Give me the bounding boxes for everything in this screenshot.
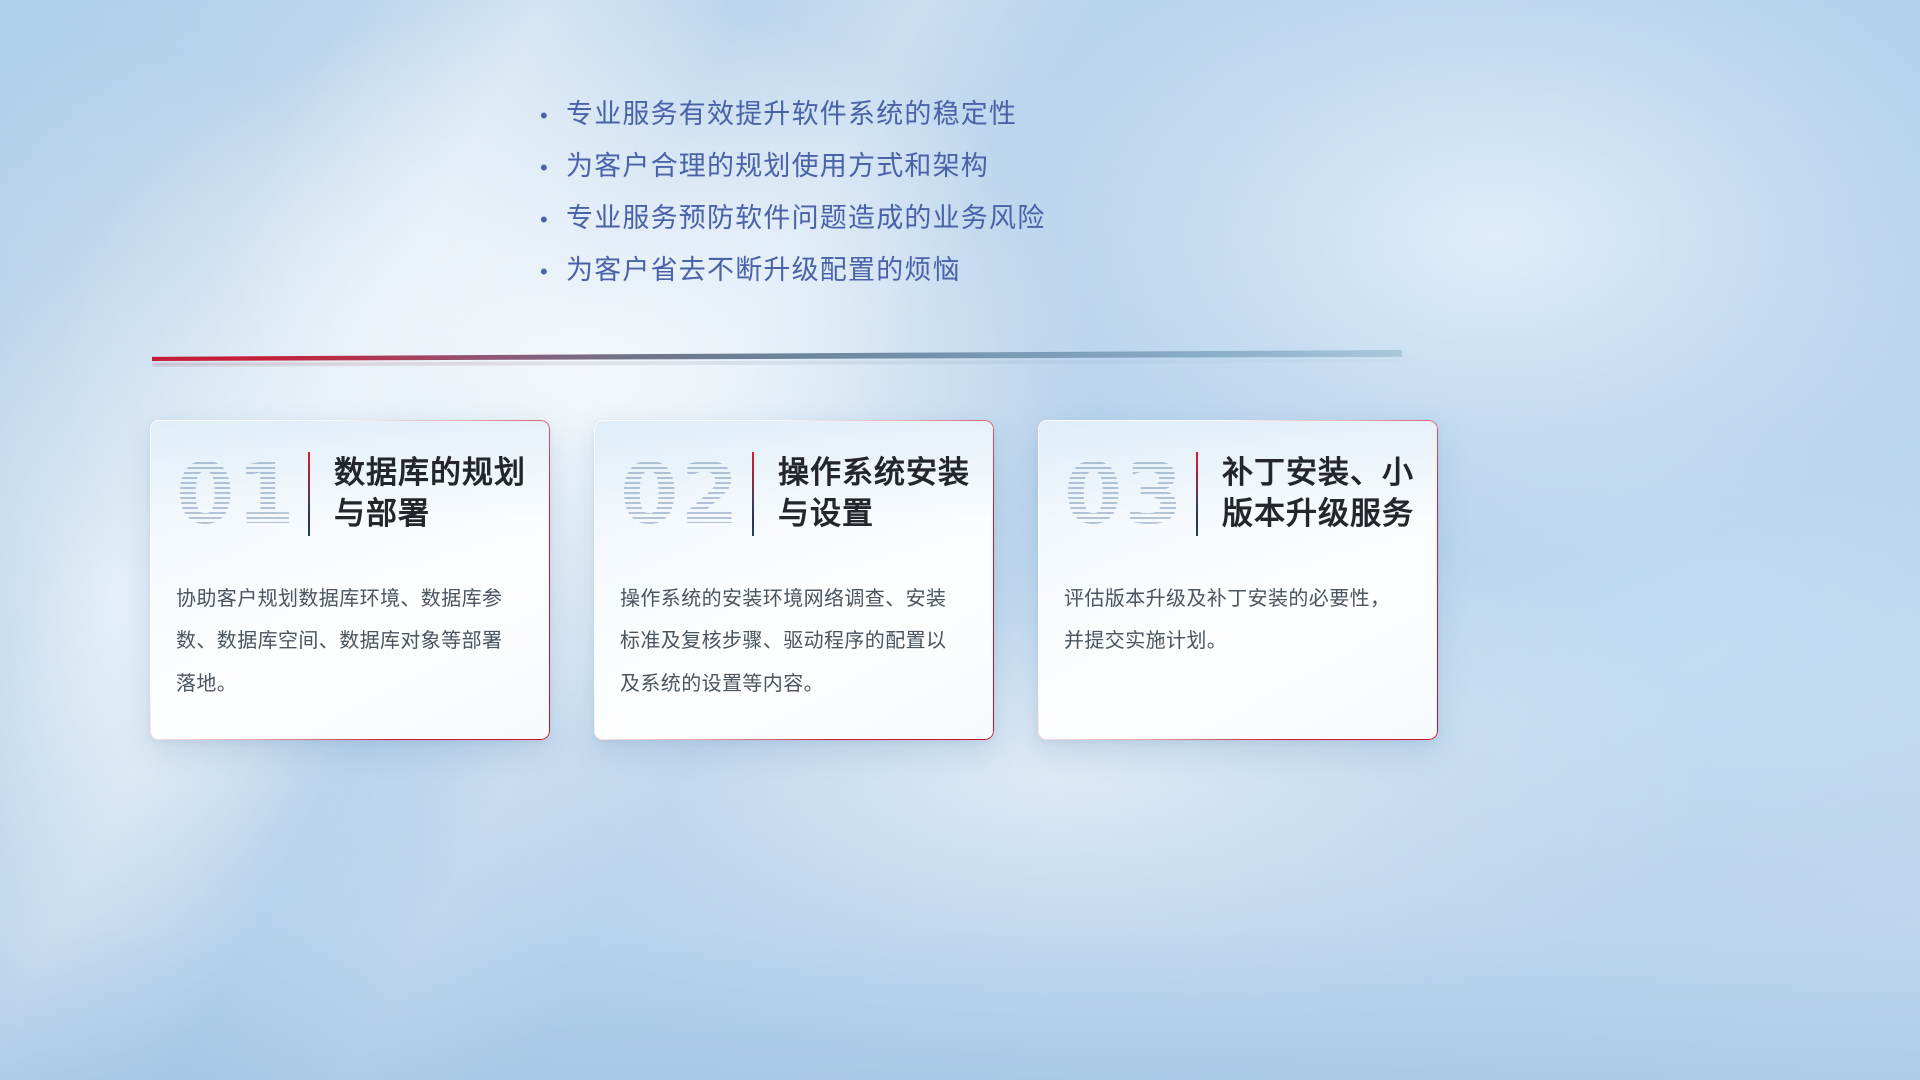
service-card-row: 01 数据库的规划与部署 协助客户规划数据库环境、数据库参数、数据库空间、数据库… — [150, 420, 1438, 740]
bullet-dot-icon: • — [540, 157, 566, 179]
card-divider-icon — [308, 452, 310, 536]
card-title: 操作系统安装与设置 — [778, 453, 993, 535]
service-card-03[interactable]: 03 补丁安装、小版本升级服务 评估版本升级及补丁安装的必要性，并提交实施计划。 — [1038, 420, 1438, 740]
card-number: 02 — [620, 452, 752, 536]
service-card-01[interactable]: 01 数据库的规划与部署 协助客户规划数据库环境、数据库参数、数据库空间、数据库… — [150, 420, 550, 740]
bullet-text: 专业服务预防软件问题造成的业务风险 — [566, 196, 1045, 235]
bullet-dot-icon: • — [540, 105, 566, 127]
card-title: 数据库的规划与部署 — [334, 453, 549, 535]
list-item: • 为客户省去不断升级配置的烦恼 — [540, 248, 1240, 300]
card-title: 补丁安装、小版本升级服务 — [1222, 453, 1437, 535]
list-item: • 专业服务有效提升软件系统的稳定性 — [540, 92, 1240, 144]
bullet-dot-icon: • — [540, 261, 566, 283]
divider-line — [152, 350, 1402, 361]
card-body-text: 评估版本升级及补丁安装的必要性，并提交实施计划。 — [1038, 568, 1438, 663]
list-item: • 专业服务预防软件问题造成的业务风险 — [540, 196, 1240, 248]
card-divider-icon — [1196, 452, 1198, 536]
section-divider — [152, 344, 1402, 370]
card-body-text: 协助客户规划数据库环境、数据库参数、数据库空间、数据库对象等部署落地。 — [150, 568, 550, 705]
card-number: 03 — [1064, 452, 1196, 536]
card-body-text: 操作系统的安装环境网络调查、安装标准及复核步骤、驱动程序的配置以及系统的设置等内… — [594, 568, 994, 705]
bullet-text: 专业服务有效提升软件系统的稳定性 — [566, 92, 1017, 131]
bullet-text: 为客户合理的规划使用方式和架构 — [566, 144, 989, 183]
list-item: • 为客户合理的规划使用方式和架构 — [540, 144, 1240, 196]
benefits-bullet-list: • 专业服务有效提升软件系统的稳定性 • 为客户合理的规划使用方式和架构 • 专… — [540, 92, 1240, 300]
bullet-text: 为客户省去不断升级配置的烦恼 — [566, 248, 961, 287]
bullet-dot-icon: • — [540, 209, 566, 231]
card-header: 01 数据库的规划与部署 — [150, 420, 550, 568]
card-header: 02 操作系统安装与设置 — [594, 420, 994, 568]
card-number: 01 — [176, 452, 308, 536]
card-divider-icon — [752, 452, 754, 536]
card-header: 03 补丁安装、小版本升级服务 — [1038, 420, 1438, 568]
service-card-02[interactable]: 02 操作系统安装与设置 操作系统的安装环境网络调查、安装标准及复核步骤、驱动程… — [594, 420, 994, 740]
